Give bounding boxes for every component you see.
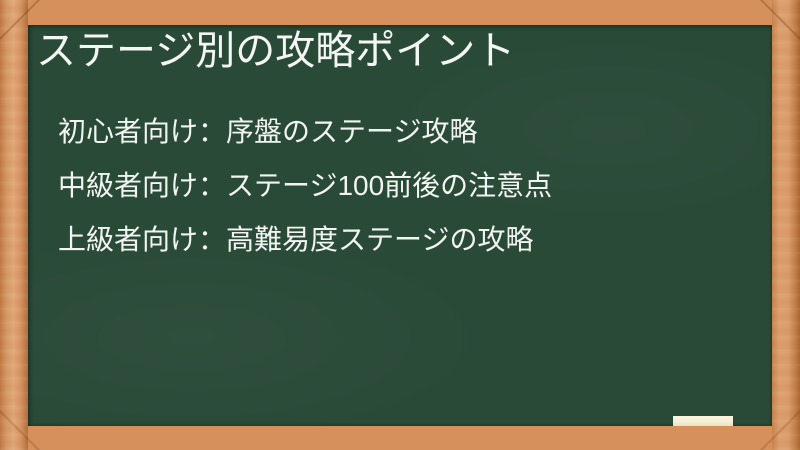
chalkboard-slide: ステージ別の攻略ポイント 初心者向け：序盤のステージ攻略 中級者向け：ステージ1… [0,0,800,450]
wood-frame-left-stile [0,0,28,450]
slide-title: ステージ別の攻略ポイント [36,31,515,71]
bullet-item-beginner: 初心者向け：序盤のステージ攻略 [58,105,552,159]
wood-frame-bottom-rail [0,426,800,450]
chalkboard-surface: ステージ別の攻略ポイント 初心者向け：序盤のステージ攻略 中級者向け：ステージ1… [28,25,772,426]
chalk-stick [673,416,733,426]
wood-frame-right-stile [772,0,800,450]
wood-frame-top-rail [0,0,800,28]
bullet-item-intermediate: 中級者向け：ステージ100前後の注意点 [58,159,552,213]
bullet-item-advanced: 上級者向け：高難易度ステージの攻略 [58,213,552,267]
bullet-list: 初心者向け：序盤のステージ攻略 中級者向け：ステージ100前後の注意点 上級者向… [58,105,552,267]
